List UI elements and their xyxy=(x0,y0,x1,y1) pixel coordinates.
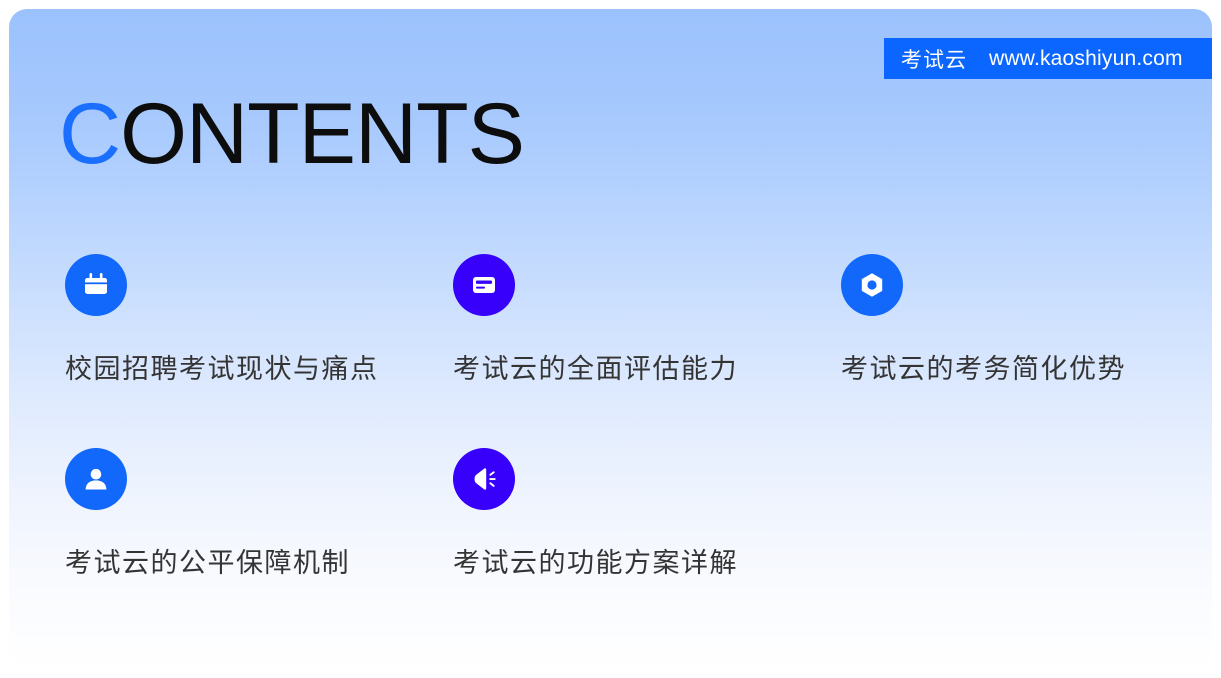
contents-slide: 考试云 www.kaoshiyun.com CONTENTS xyxy=(9,9,1212,669)
speaker-icon xyxy=(453,448,515,510)
contents-item-2[interactable]: 考试云的全面评估能力 xyxy=(453,254,841,448)
contents-item-1[interactable]: 校园招聘考试现状与痛点 xyxy=(65,254,453,448)
hex-nut-icon xyxy=(841,254,903,316)
contents-list: 校园招聘考试现状与痛点 考试云的全面评估能力 xyxy=(65,254,1175,580)
contents-item-5[interactable]: 考试云的功能方案详解 xyxy=(453,448,841,580)
page-title-rest: ONTENTS xyxy=(120,86,524,182)
contents-item-label: 校园招聘考试现状与痛点 xyxy=(65,347,453,386)
brand-banner: 考试云 www.kaoshiyun.com xyxy=(884,38,1212,79)
page-title-accent-letter: C xyxy=(59,86,120,182)
contents-item-4[interactable]: 考试云的公平保障机制 xyxy=(65,448,453,580)
contents-item-3[interactable]: 考试云的考务简化优势 xyxy=(841,254,1175,448)
card-icon xyxy=(453,254,515,316)
contents-item-label: 考试云的公平保障机制 xyxy=(65,541,453,580)
brand-url: www.kaoshiyun.com xyxy=(989,47,1183,71)
contents-item-label: 考试云的考务简化优势 xyxy=(841,347,1175,386)
contents-item-label: 考试云的全面评估能力 xyxy=(453,347,841,386)
brand-name: 考试云 xyxy=(901,44,967,74)
user-icon xyxy=(65,448,127,510)
slide-canvas: 考试云 www.kaoshiyun.com CONTENTS xyxy=(0,0,1221,678)
calendar-icon xyxy=(65,254,127,316)
page-title: CONTENTS xyxy=(59,91,524,177)
contents-item-label: 考试云的功能方案详解 xyxy=(453,541,841,580)
